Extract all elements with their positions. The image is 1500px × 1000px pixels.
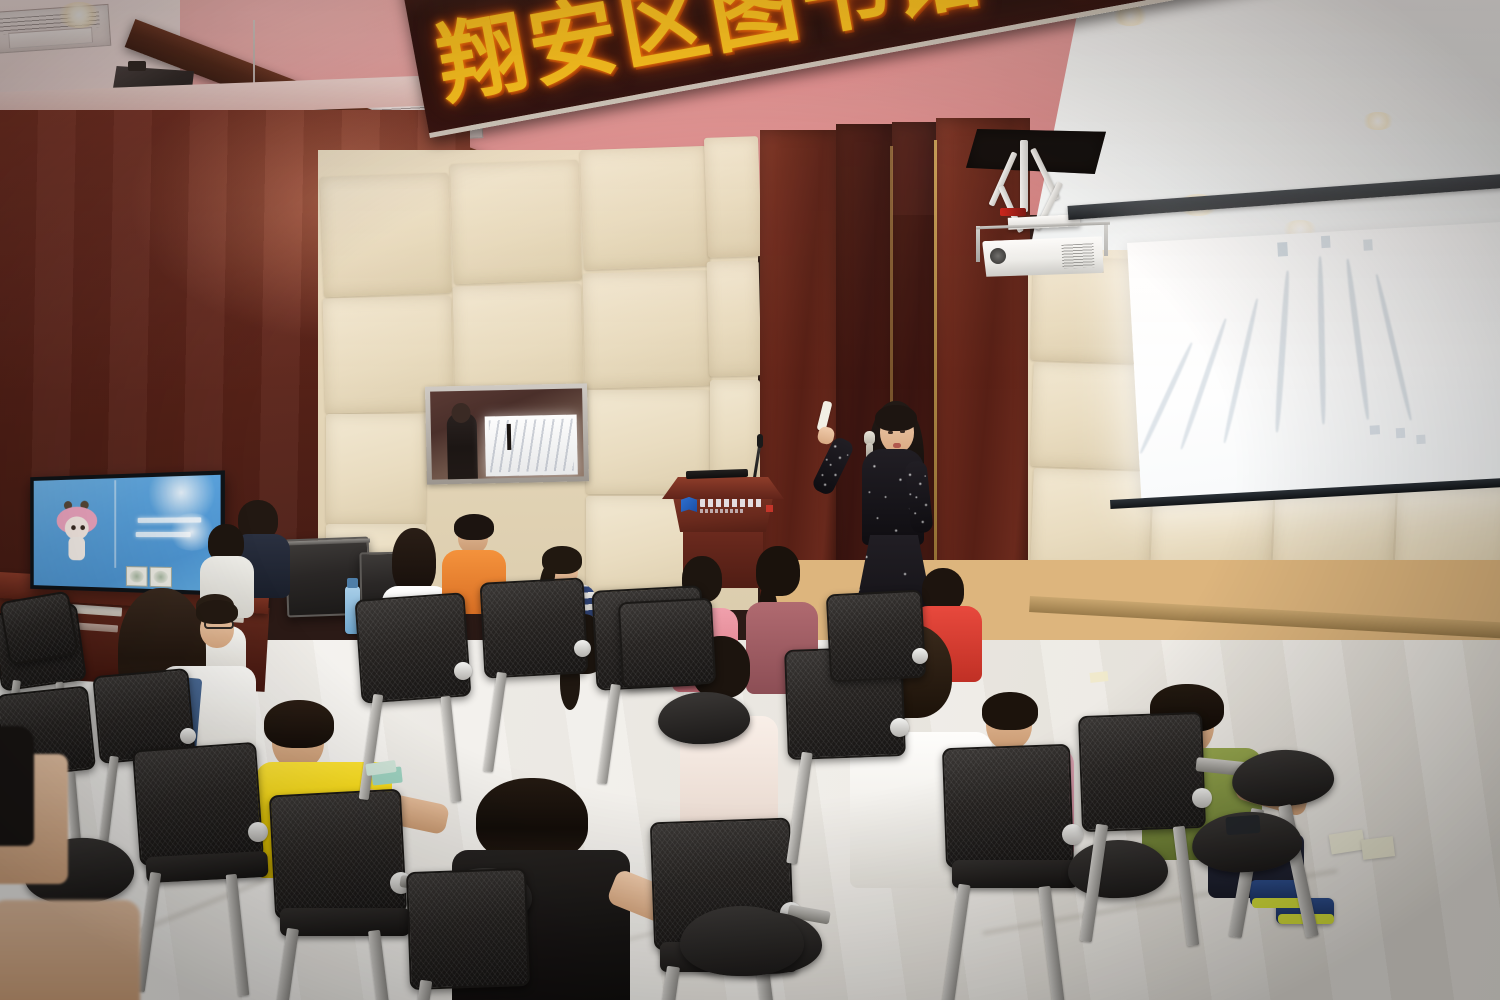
wall-panel: [320, 173, 452, 297]
window-reflection-screen: [485, 415, 578, 477]
wall-panel: [450, 160, 582, 284]
lectern-top: [662, 477, 784, 499]
presenter-left-sleeve: [810, 435, 855, 497]
wall-panel: [583, 270, 712, 388]
projector-rail: [976, 226, 980, 262]
presenter-eye: [900, 430, 905, 433]
side-tv-screen: [34, 475, 221, 591]
window-reflection-presenter: [447, 413, 479, 480]
wall-panel: [1030, 362, 1152, 470]
lecture-hall-photo: 翔安区图书馆“书香墨韵”中国画金奖: [0, 0, 1500, 1000]
interior-window-frame: [425, 383, 589, 484]
water-bottle-cap: [347, 578, 358, 588]
hair: [982, 692, 1038, 730]
lectern-logo-seal: [766, 505, 773, 512]
torso: [0, 726, 34, 846]
torso: [0, 900, 140, 1000]
tv-slide-card: [126, 566, 148, 587]
chair-writing-tablet: [680, 906, 804, 976]
scissor-lift-arm: [1020, 140, 1028, 212]
projector-lens: [990, 248, 1006, 264]
paper-on-floor: [1361, 836, 1395, 860]
side-tv: [30, 470, 225, 595]
wall-panel: [1030, 468, 1152, 576]
downlight-1: [57, 2, 101, 28]
downlight-6: [1362, 112, 1394, 130]
presenter-fringe: [875, 405, 917, 431]
presenter-mouth: [893, 443, 901, 448]
wall-panel: [580, 146, 710, 270]
wall-panel: [326, 414, 426, 524]
projector-vent: [1061, 243, 1094, 269]
tv-mascot-icon: [57, 500, 97, 561]
projector-cable-connector: [1000, 208, 1026, 216]
tv-slide-card: [150, 567, 172, 588]
hair: [454, 514, 494, 540]
lectern-logo-subtext: [700, 509, 744, 513]
hair: [196, 600, 238, 624]
wall-panel: [704, 136, 762, 258]
interior-window-glass: [430, 388, 584, 479]
wall-panel: [707, 260, 762, 376]
hair: [264, 700, 334, 748]
hair: [392, 528, 436, 594]
projector-rail: [1104, 222, 1108, 256]
lectern-logo-text: [700, 499, 762, 507]
smartphone-on-tablet: [1225, 815, 1260, 835]
paper-on-floor: [1090, 671, 1109, 683]
speaker-bracket-left: [128, 61, 146, 71]
wood-column-right: [936, 118, 1030, 606]
podium-microphone-head: [757, 434, 763, 448]
projection-screen: [1127, 221, 1500, 501]
presenter-eye: [888, 431, 893, 434]
